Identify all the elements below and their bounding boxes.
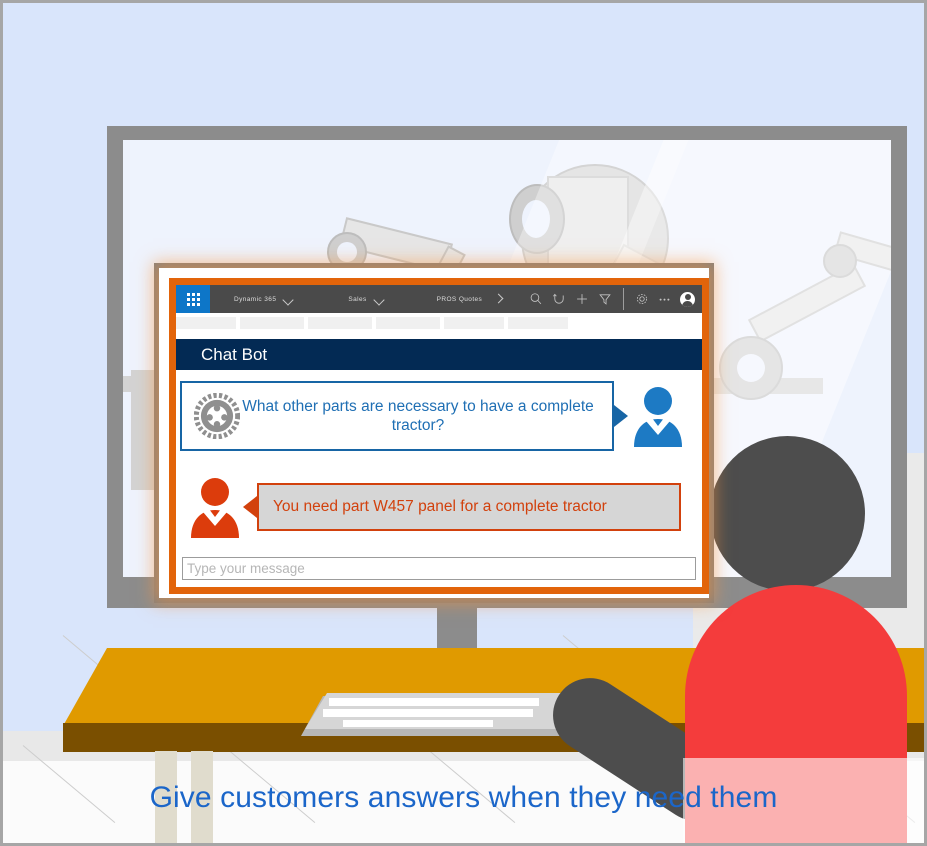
breadcrumb-entity-label: PROS Quotes — [437, 296, 483, 303]
breadcrumb-app[interactable]: Dynamic 365 — [234, 294, 294, 305]
placeholder-bar — [240, 317, 304, 329]
placeholder-bar — [444, 317, 504, 329]
keyboard-keys — [305, 693, 577, 729]
app-launcher-button[interactable] — [176, 285, 210, 313]
breadcrumb-area[interactable]: Sales — [348, 294, 384, 305]
search-icon[interactable] — [529, 292, 543, 306]
chevron-right-icon — [495, 294, 506, 305]
keyboard-key — [343, 720, 493, 727]
chat-message-user: You need part W457 panel for a complete … — [189, 476, 681, 538]
command-bar-divider — [623, 288, 624, 310]
gear-icon[interactable] — [635, 292, 649, 306]
tire-icon — [194, 393, 240, 439]
illustration-canvas: Dynamic 365 Sales PROS Quotes — [0, 0, 927, 846]
waffle-icon — [187, 293, 200, 306]
chat-bot-title: Chat Bot — [201, 345, 267, 365]
chat-message-bot: What other parts are necessary to have a… — [180, 381, 684, 451]
bot-message-text: What other parts are necessary to have a… — [240, 397, 612, 435]
user-avatar-icon[interactable] — [680, 292, 695, 307]
chevron-down-icon — [374, 294, 385, 305]
breadcrumb-area-label: Sales — [348, 296, 366, 303]
placeholder-bar — [508, 317, 568, 329]
placeholder-tab-row — [176, 317, 702, 331]
bot-bubble-tail — [614, 405, 628, 427]
ellipsis-icon[interactable] — [658, 292, 671, 306]
user-bubble-tail — [243, 496, 257, 518]
user-message-bubble[interactable]: You need part W457 panel for a complete … — [257, 483, 681, 531]
breadcrumb-entity[interactable]: PROS Quotes — [437, 294, 507, 305]
caption-text: Give customers answers when they need th… — [3, 781, 924, 815]
placeholder-bar — [176, 317, 236, 329]
message-input[interactable] — [182, 557, 696, 580]
refresh-icon[interactable] — [552, 292, 566, 306]
plus-icon[interactable] — [575, 292, 589, 306]
keyboard-key — [323, 709, 533, 717]
person-red-icon — [189, 476, 241, 538]
chat-bot-header: Chat Bot — [176, 339, 702, 370]
person-blue-icon — [632, 385, 684, 447]
filter-icon[interactable] — [598, 292, 612, 306]
placeholder-bar — [308, 317, 372, 329]
bot-message-bubble[interactable]: What other parts are necessary to have a… — [180, 381, 614, 451]
breadcrumb-app-label: Dynamic 365 — [234, 296, 276, 303]
user-message-text: You need part W457 panel for a complete … — [273, 498, 607, 516]
placeholder-bar — [376, 317, 440, 329]
person-head — [710, 436, 865, 591]
command-bar-icons — [529, 288, 702, 310]
keyboard-key — [329, 698, 539, 706]
chevron-down-icon — [283, 294, 294, 305]
dynamics-command-bar: Dynamic 365 Sales PROS Quotes — [176, 285, 702, 313]
